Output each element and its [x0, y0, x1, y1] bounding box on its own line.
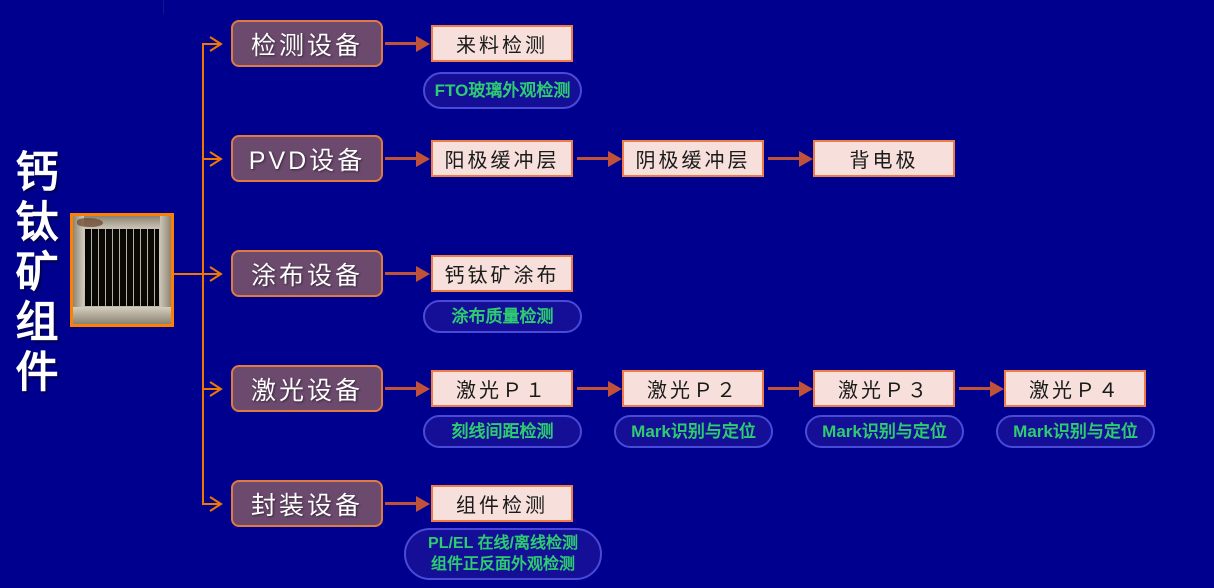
equipment-box-inspection[interactable]: 检测设备: [231, 20, 383, 67]
arrow-eq4-to-p1: [385, 387, 417, 390]
photo-scribe-lines: [85, 229, 159, 306]
tree-arrowhead-3: [208, 265, 224, 283]
tree-photo-connector: [174, 273, 204, 275]
equipment-box-encapsulation[interactable]: 封装设备: [231, 480, 383, 527]
page-title-char-4: 组: [8, 298, 66, 348]
badge-line-2: 组件正反面外观检测: [431, 554, 575, 575]
page-title-char-1: 钙: [8, 148, 66, 198]
arrow-eq3-to-step1: [385, 272, 417, 275]
tree-arrowhead-1: [208, 35, 224, 53]
process-box-incoming-inspection[interactable]: 来料检测: [431, 25, 573, 62]
equipment-box-laser[interactable]: 激光设备: [231, 365, 383, 412]
top-edge-tick: [163, 0, 164, 14]
badge-mark-recognition-p3[interactable]: Mark识别与定位: [805, 415, 964, 448]
process-box-cathode-buffer[interactable]: 阴极缓冲层: [622, 140, 764, 177]
tree-arrowhead-2: [208, 150, 224, 168]
badge-line: Mark识别与定位: [822, 421, 947, 442]
photo-edge-bottom: [73, 307, 171, 324]
arrow-step2-to-step3-pvd: [768, 157, 800, 160]
process-box-perovskite-coating[interactable]: 钙钛矿涂布: [431, 255, 573, 292]
badge-mark-recognition-p4[interactable]: Mark识别与定位: [996, 415, 1155, 448]
process-box-back-electrode[interactable]: 背电极: [813, 140, 955, 177]
page-title-char-3: 矿: [8, 248, 66, 298]
process-box-laser-p4[interactable]: 激光Ｐ４: [1004, 370, 1146, 407]
badge-scribe-pitch-inspection[interactable]: 刻线间距检测: [423, 415, 582, 448]
badge-line: Mark识别与定位: [1013, 421, 1138, 442]
tree-arrowhead-4: [208, 380, 224, 398]
badge-line-1: PL/EL 在线/离线检测: [428, 533, 578, 554]
arrow-eq2-to-step1: [385, 157, 417, 160]
equipment-box-coating[interactable]: 涂布设备: [231, 250, 383, 297]
photo-active-area: [85, 229, 159, 306]
tree-arrowhead-5: [208, 495, 224, 513]
arrow-step1-to-step2-pvd: [577, 157, 609, 160]
process-box-laser-p3[interactable]: 激光Ｐ３: [813, 370, 955, 407]
arrow-p3-to-p4: [959, 387, 991, 390]
page-title-char-2: 钛: [8, 198, 66, 248]
photo-smudge: [77, 218, 103, 227]
badge-coating-quality[interactable]: 涂布质量检测: [423, 300, 582, 333]
badge-fto-glass-appearance[interactable]: FTO玻璃外观检测: [423, 72, 582, 109]
arrow-p2-to-p3: [768, 387, 800, 390]
badge-line: Mark识别与定位: [631, 421, 756, 442]
process-box-anode-buffer[interactable]: 阳极缓冲层: [431, 140, 573, 177]
badge-pl-el-and-appearance[interactable]: PL/EL 在线/离线检测 组件正反面外观检测: [404, 528, 602, 580]
badge-line: 涂布质量检测: [452, 306, 554, 327]
process-box-module-inspection[interactable]: 组件检测: [431, 485, 573, 522]
process-box-laser-p1[interactable]: 激光Ｐ１: [431, 370, 573, 407]
badge-mark-recognition-p2[interactable]: Mark识别与定位: [614, 415, 773, 448]
arrow-p1-to-p2: [577, 387, 609, 390]
badge-line: 刻线间距检测: [452, 421, 554, 442]
page-title: 钙 钛 矿 组 件: [8, 148, 66, 398]
equipment-box-pvd[interactable]: PVD设备: [231, 135, 383, 182]
process-box-laser-p2[interactable]: 激光Ｐ２: [622, 370, 764, 407]
arrow-eq5-to-step1: [385, 502, 417, 505]
page-title-char-5: 件: [8, 348, 66, 398]
badge-line: FTO玻璃外观检测: [435, 80, 571, 101]
perovskite-module-photo: [70, 213, 174, 327]
arrow-eq1-to-step1: [385, 42, 417, 45]
flowchart-canvas: 钙 钛 矿 组 件 检测设备 来料检测: [0, 0, 1214, 588]
